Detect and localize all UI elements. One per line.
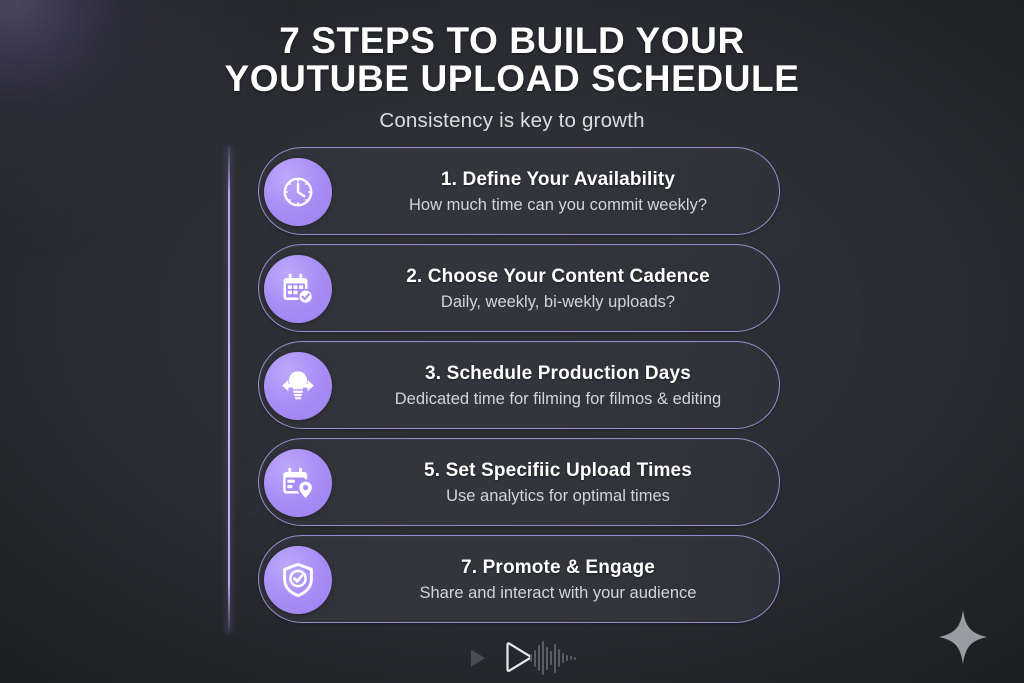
page-subtitle: Consistency is key to growth	[0, 109, 1024, 133]
page-title-line-1: 7 STEPS TO BUILD YOUR	[0, 22, 1024, 60]
step-title: 3. Schedule Production Days	[365, 362, 751, 385]
four-point-sparkle-icon	[936, 608, 990, 671]
step-description: Daily, weekly, bi-wekly uploads?	[365, 292, 751, 312]
step-card[interactable]: 2. Choose Your Content Cadence Daily, we…	[258, 244, 780, 332]
step-title: 5. Set Specifiic Upload Times	[365, 459, 751, 482]
shield-check-icon	[264, 546, 332, 614]
step-text-block: 2. Choose Your Content Cadence Daily, we…	[365, 265, 765, 312]
vertical-progress-rail	[228, 146, 230, 633]
step-card[interactable]: 1. Define Your Availability How much tim…	[258, 147, 780, 235]
step-text-block: 1. Define Your Availability How much tim…	[365, 168, 765, 215]
audio-waveform-icon	[530, 638, 576, 678]
step-description: How much time can you commit weekly?	[365, 195, 751, 215]
step-description: Dedicated time for filming for filmos & …	[365, 389, 751, 409]
calendar-pin-icon	[264, 449, 332, 517]
step-title: 2. Choose Your Content Cadence	[365, 265, 751, 288]
step-card[interactable]: 3. Schedule Production Days Dedicated ti…	[258, 341, 780, 429]
step-text-block: 5. Set Specifiic Upload Times Use analyt…	[365, 459, 765, 506]
play-triangle-icon[interactable]	[467, 647, 489, 674]
step-card[interactable]: 7. Promote & Engage Share and interact w…	[258, 535, 780, 623]
header-block: 7 STEPS TO BUILD YOUR YOUTUBE UPLOAD SCH…	[0, 22, 1024, 133]
step-text-block: 7. Promote & Engage Share and interact w…	[365, 556, 765, 603]
infographic-root: 7 STEPS TO BUILD YOUR YOUTUBE UPLOAD SCH…	[0, 0, 1024, 683]
steps-list: 1. Define Your Availability How much tim…	[258, 147, 780, 632]
step-text-block: 3. Schedule Production Days Dedicated ti…	[365, 362, 765, 409]
lightbulb-arrows-icon	[264, 352, 332, 420]
step-card[interactable]: 5. Set Specifiic Upload Times Use analyt…	[258, 438, 780, 526]
clock-icon	[264, 158, 332, 226]
step-title: 7. Promote & Engage	[365, 556, 751, 579]
step-title: 1. Define Your Availability	[365, 168, 751, 191]
page-title-line-2: YOUTUBE UPLOAD SCHEDULE	[0, 60, 1024, 98]
step-description: Use analytics for optimal times	[365, 486, 751, 506]
calendar-check-icon	[264, 255, 332, 323]
media-player-controls[interactable]	[455, 638, 595, 678]
step-description: Share and interact with your audience	[365, 583, 751, 603]
